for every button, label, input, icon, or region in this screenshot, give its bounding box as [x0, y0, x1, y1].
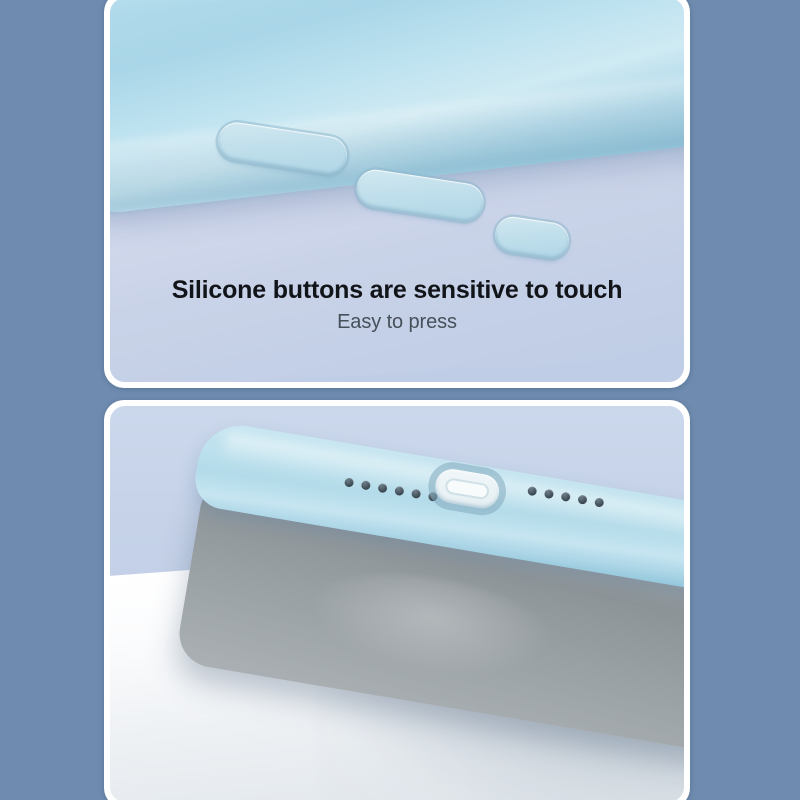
grille-hole [577, 494, 587, 504]
grille-hole [377, 483, 387, 493]
charging-port-cutout [433, 467, 502, 511]
grille-hole [527, 486, 537, 496]
product-feature-graphic: Silicone buttons are sensitive to touch … [0, 0, 800, 800]
panel-1-scene: Silicone buttons are sensitive to touch … [110, 0, 684, 382]
volume-down-button[interactable] [354, 167, 486, 224]
phone-back-reflection [301, 558, 560, 693]
grille-hole [594, 497, 604, 507]
power-button[interactable] [493, 214, 572, 261]
panel-1-caption: Silicone buttons are sensitive to touch … [110, 276, 684, 334]
panel-1-subline: Easy to press [110, 311, 684, 334]
grille-hole [394, 486, 404, 496]
panel-2-scene: Precise holes for dust prevention 1:1 re… [110, 406, 684, 800]
grille-hole [561, 492, 571, 502]
panel-1-headline: Silicone buttons are sensitive to touch [110, 276, 684, 305]
grille-hole [544, 489, 554, 499]
case-highlight [110, 0, 684, 22]
grille-hole [361, 480, 371, 490]
feature-panel-silicone-buttons: Silicone buttons are sensitive to touch … [104, 0, 690, 388]
grille-hole [411, 489, 421, 499]
feature-panel-precise-holes: Precise holes for dust prevention 1:1 re… [104, 400, 690, 800]
charging-port-opening [444, 477, 490, 500]
grille-hole [344, 477, 354, 487]
